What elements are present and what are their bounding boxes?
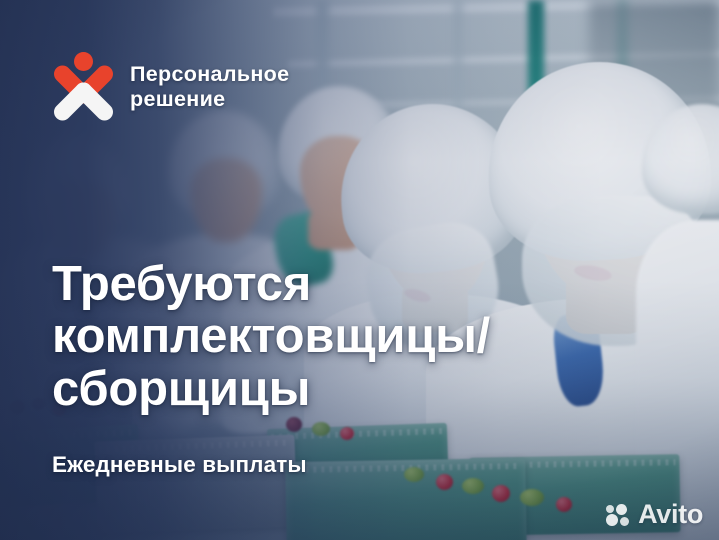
brand-logo: Персональное решение <box>52 52 289 122</box>
brand-name: Персональное решение <box>130 62 289 112</box>
avito-wordmark: Avito <box>638 501 703 528</box>
job-ad-banner: Персональное решение Требуются комплекто… <box>0 0 719 540</box>
subheadline: Ежедневные выплаты <box>52 452 307 478</box>
headline: Требуются комплектовщицы/ сборщицы <box>52 258 490 415</box>
personalnoe-reshenie-logo-icon <box>52 52 115 122</box>
avito-dots-icon <box>606 504 631 526</box>
avito-watermark: Avito <box>606 501 703 528</box>
